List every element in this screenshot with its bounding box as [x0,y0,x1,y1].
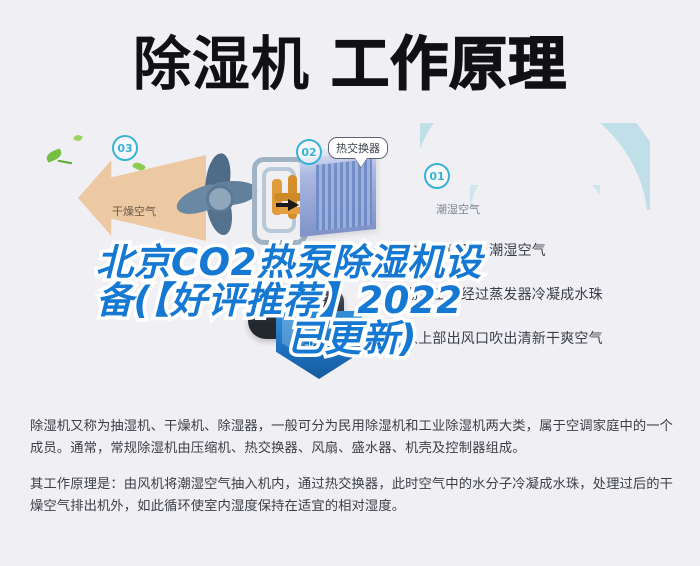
step-marker-01: 01 [424,163,450,189]
page-title: 除湿机 工作原理 [133,35,567,93]
step-marker-02: 02 [296,139,322,165]
step-marker-03: 03 [112,135,138,161]
airflow-direction-arrow-icon [288,199,299,211]
leaf-stem-icon [58,160,72,164]
fan-icon [170,145,260,235]
dry-air-label: 干燥空气 [112,203,156,219]
overlay-line-1: 北京CO2热泵除湿机设 [96,244,608,282]
promotional-headline-overlay: 北京CO2热泵除湿机设 备(【好评推荐】2022 已更新) [96,244,608,358]
page-title-part-2: 工作原理 [310,30,567,98]
body-paragraph-2: 其工作原理是：由风机将潮湿空气抽入机内，通过热交换器，此时空气中的水分子冷凝成水… [30,474,678,518]
header: 除湿机 工作原理 [0,18,700,110]
moist-air-label: 潮湿空气 [436,201,480,217]
body-paragraph-1: 除湿机又称为抽湿机、干燥机、除湿器，一般可分为民用除湿机和工业除湿机两大类，属于… [30,416,678,460]
article-body: 除湿机又称为抽湿机、干燥机、除湿器，一般可分为民用除湿机和工业除湿机两大类，属于… [30,416,678,532]
overlay-line-2: 备(【好评推荐】2022 [96,282,608,320]
fan-hub-icon [206,185,234,213]
leaf-icon [73,134,82,142]
page-title-part-1: 除湿机 [133,30,310,98]
overlay-line-3: 已更新) [96,320,608,358]
heat-exchanger-callout: 热交换器 [328,137,388,159]
page-root: 除湿机 工作原理 干燥空气 [0,0,700,566]
heat-exchanger-fins-icon [316,159,372,231]
